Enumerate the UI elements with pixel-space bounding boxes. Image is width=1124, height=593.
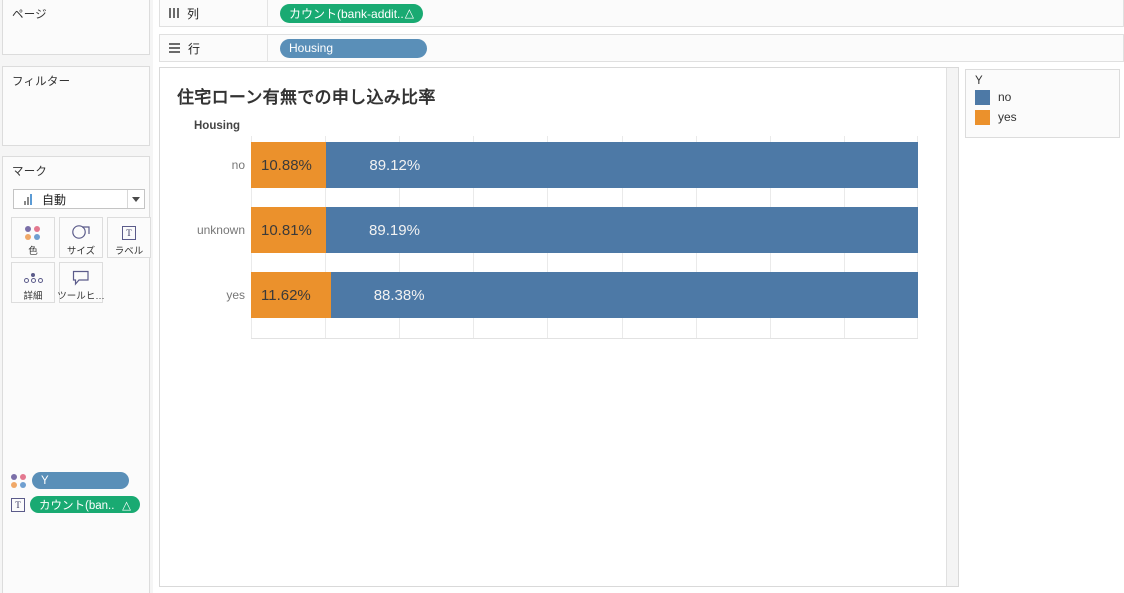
bar-value-yes: 10.81% xyxy=(251,222,312,239)
bar-value-no: 88.38% xyxy=(331,287,425,304)
mark-pill-color-label[interactable]: Y xyxy=(32,472,129,489)
bar-segment-no[interactable]: 89.19% xyxy=(326,207,918,253)
mark-property-buttons: 色 サイズ T ラベル xyxy=(11,217,151,303)
pill-count-bank-additional[interactable]: カウント(bank-addit.. △ xyxy=(280,4,423,23)
columns-shelf-label-group: 列 xyxy=(160,0,268,26)
bar-segment-yes[interactable]: 10.88% xyxy=(251,142,326,188)
stacked-bar-chart[interactable]: no 10.88% 89.12% unknown 10.81% 89.19% y… xyxy=(251,136,918,333)
row-label-yes: yes xyxy=(226,272,245,318)
pages-card[interactable]: ページ xyxy=(2,0,150,55)
filters-card-title: フィルター xyxy=(3,67,149,89)
delta-icon: △ xyxy=(122,498,131,512)
rows-shelf-dropzone[interactable]: Housing xyxy=(268,39,427,58)
bar-segment-yes[interactable]: 10.81% xyxy=(251,207,326,253)
marks-tooltip-label: ツールヒ… xyxy=(57,288,105,302)
bar-segment-no[interactable]: 88.38% xyxy=(331,272,918,318)
color-legend[interactable]: Y no yes xyxy=(965,69,1120,138)
rows-shelf-label-group: 行 xyxy=(160,35,268,61)
bar-row-no[interactable]: no 10.88% 89.12% xyxy=(251,142,918,188)
bar-value-no: 89.12% xyxy=(326,157,420,174)
color-dots-icon xyxy=(25,223,41,242)
rows-shelf[interactable]: 行 Housing xyxy=(159,34,1124,62)
bar-value-yes: 11.62% xyxy=(251,287,311,304)
mark-pill-label[interactable]: T カウント(ban.. △ xyxy=(11,496,140,513)
mark-pill-label-text: カウント(ban.. xyxy=(39,497,114,513)
columns-shelf-label: 列 xyxy=(187,5,199,22)
legend-title: Y xyxy=(966,70,1119,87)
tooltip-icon xyxy=(71,268,91,287)
rows-icon xyxy=(169,43,180,53)
marks-label-button[interactable]: T ラベル xyxy=(107,217,151,258)
marks-card[interactable]: マーク 自動 色 xyxy=(2,156,150,593)
chevron-down-icon[interactable] xyxy=(127,190,144,208)
legend-item-yes[interactable]: yes xyxy=(966,107,1119,127)
mark-pill-color[interactable]: Y xyxy=(11,472,129,489)
size-icon xyxy=(70,223,92,242)
marks-color-button[interactable]: 色 xyxy=(11,217,55,258)
bar-chart-icon xyxy=(18,194,38,205)
label-text-icon: T xyxy=(122,223,136,242)
columns-shelf[interactable]: 列 カウント(bank-addit.. △ xyxy=(159,0,1124,27)
legend-item-no[interactable]: no xyxy=(966,87,1119,107)
columns-shelf-dropzone[interactable]: カウント(bank-addit.. △ xyxy=(268,4,423,23)
marks-detail-label: 詳細 xyxy=(23,288,42,302)
pages-card-title: ページ xyxy=(3,0,149,22)
columns-icon xyxy=(169,8,179,18)
marks-label-label: ラベル xyxy=(115,243,144,257)
legend-label-no: no xyxy=(998,90,1011,104)
mark-type-value: 自動 xyxy=(42,191,66,208)
marks-size-label: サイズ xyxy=(67,243,95,257)
tableau-worksheet-window: ページ フィルター マーク 自動 色 xyxy=(0,0,1124,593)
legend-swatch-yes xyxy=(975,110,990,125)
bar-value-yes: 10.88% xyxy=(251,157,312,174)
x-axis-line xyxy=(251,338,918,339)
label-text-icon: T xyxy=(11,498,25,512)
legend-label-yes: yes xyxy=(998,110,1017,124)
marks-tooltip-button[interactable]: ツールヒ… xyxy=(59,262,103,303)
detail-dots-icon xyxy=(24,268,43,287)
pill-columns-text: カウント(bank-addit.. xyxy=(289,5,404,22)
left-sidebar: ページ フィルター マーク 自動 色 xyxy=(0,0,153,593)
delta-icon: △ xyxy=(405,6,414,20)
bar-value-no: 89.19% xyxy=(326,222,420,239)
row-label-unknown: unknown xyxy=(197,207,245,253)
worksheet-vertical-scrollbar[interactable] xyxy=(946,68,958,586)
bar-row-yes[interactable]: yes 11.62% 88.38% xyxy=(251,272,918,318)
mark-type-dropdown[interactable]: 自動 xyxy=(13,189,145,209)
color-dots-icon xyxy=(11,474,27,488)
bar-segment-yes[interactable]: 11.62% xyxy=(251,272,331,318)
page-title: 住宅ローン有無での申し込み比率 xyxy=(177,83,436,108)
bar-row-unknown[interactable]: unknown 10.81% 89.19% xyxy=(251,207,918,253)
marks-size-button[interactable]: サイズ xyxy=(59,217,103,258)
legend-swatch-no xyxy=(975,90,990,105)
filters-card[interactable]: フィルター xyxy=(2,66,150,146)
marks-card-title: マーク xyxy=(3,157,149,179)
row-field-caption: Housing xyxy=(194,120,240,132)
mark-pill-label-pill[interactable]: カウント(ban.. △ xyxy=(30,496,140,513)
worksheet-canvas[interactable]: 住宅ローン有無での申し込み比率 Housing no 10.88% 89.12%… xyxy=(159,67,959,587)
rows-shelf-label: 行 xyxy=(188,40,200,57)
row-label-no: no xyxy=(232,142,245,188)
marks-detail-button[interactable]: 詳細 xyxy=(11,262,55,303)
marks-color-label: 色 xyxy=(28,243,38,257)
bar-segment-no[interactable]: 89.12% xyxy=(326,142,918,188)
pill-housing[interactable]: Housing xyxy=(280,39,427,58)
